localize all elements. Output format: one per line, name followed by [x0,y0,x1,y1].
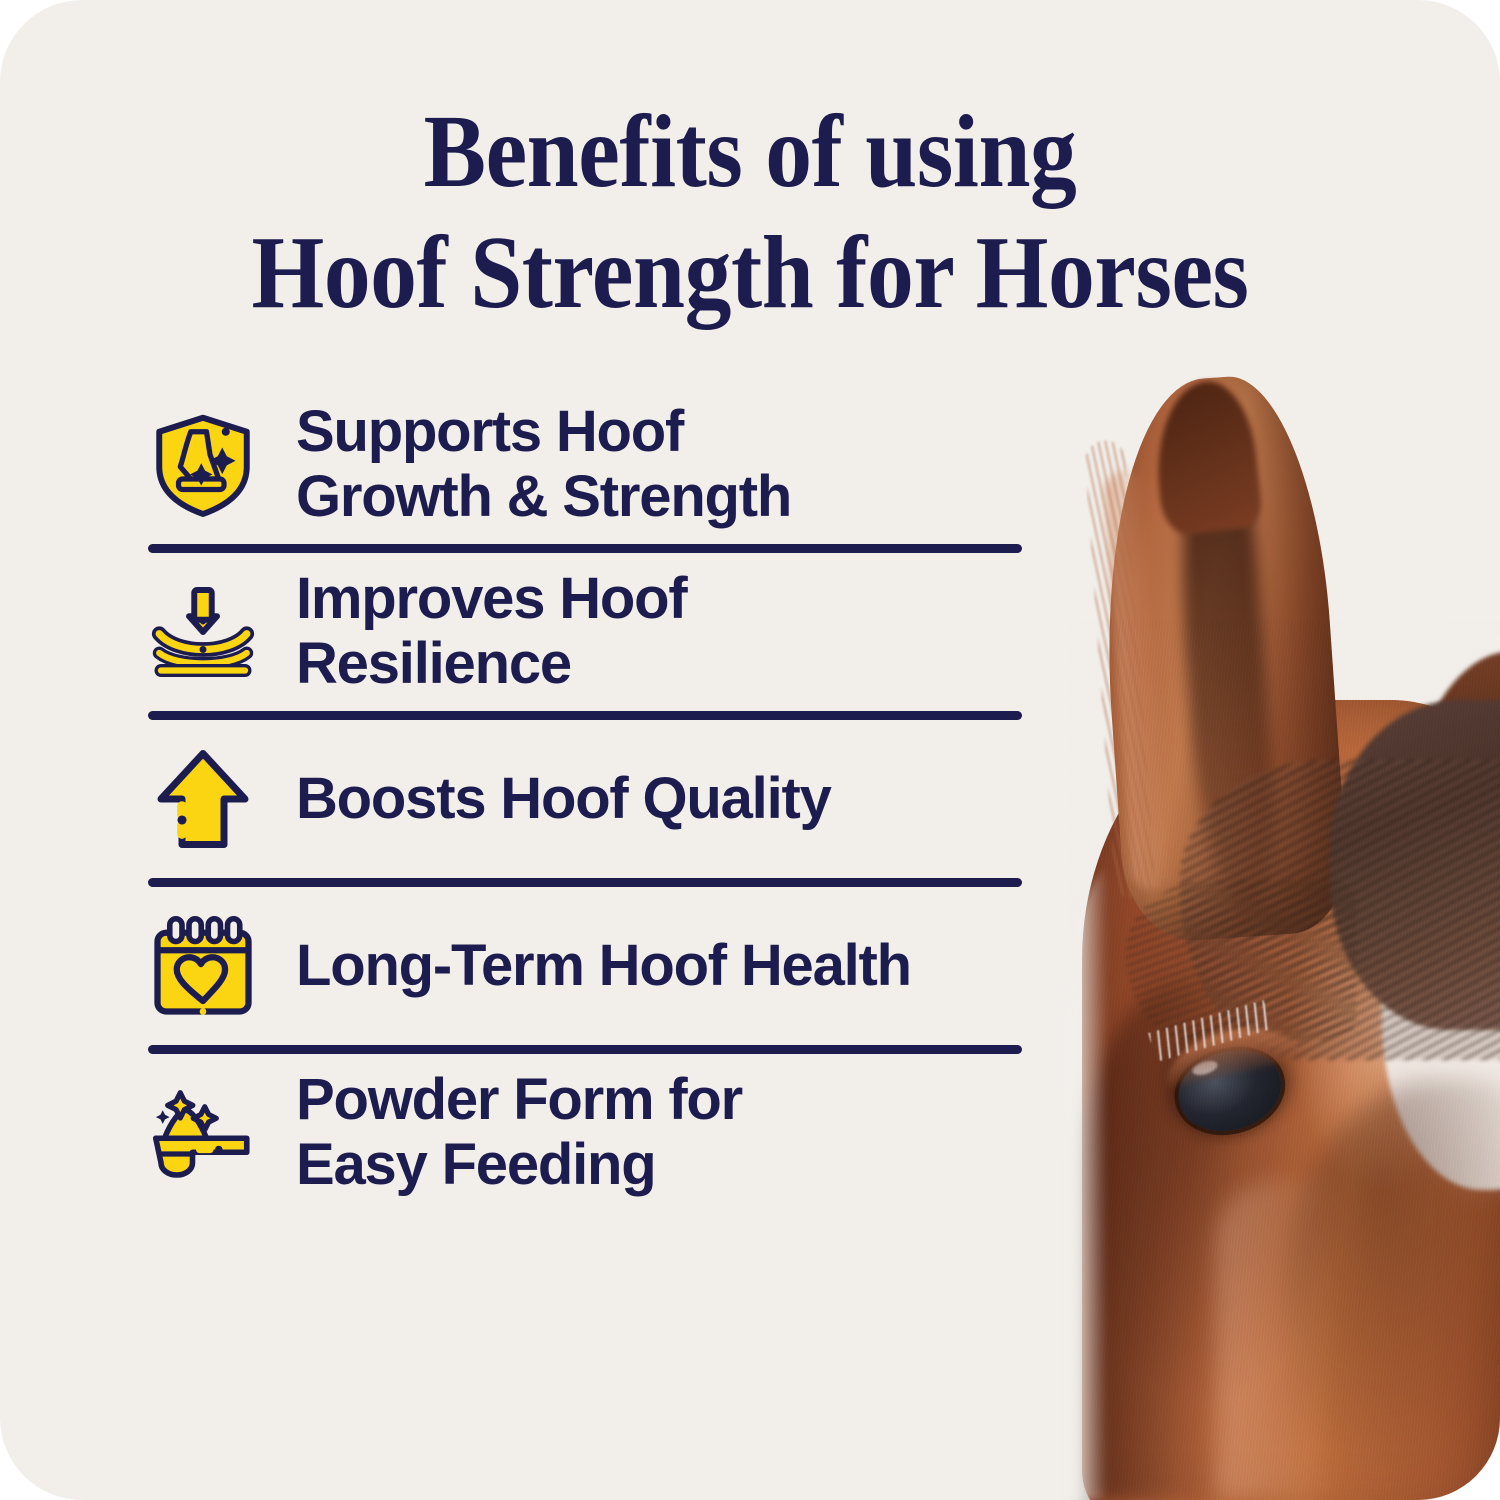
horse-eye-socket [1158,1020,1308,1140]
horse-silhouette-feather [1064,860,1124,1500]
page-title: Benefits of using Hoof Strength for Hors… [75,92,1425,333]
title-line-1: Benefits of using [75,92,1425,213]
horse-eyelashes [1148,1000,1272,1062]
benefit-divider [148,544,1022,553]
powder-scoop-icon [144,1074,262,1192]
calendar-heart-icon [144,907,262,1025]
horse-mane-strands [1180,760,1500,1060]
benefit-item-powder-form: Powder Form for Easy Feeding [144,1058,1024,1208]
horse-head-shadow [1082,980,1232,1500]
horse-nose-ridge [1216,1180,1336,1500]
horse-eye [1170,1041,1290,1142]
benefit-label: Long-Term Hoof Health [296,934,911,999]
benefit-item-hoof-resilience: Improves Hoof Resilience [144,557,1024,707]
horse-fur-texture [1070,620,1500,1500]
shield-hoof-icon [144,406,262,524]
horse-cheek-shading [1280,1080,1500,1500]
horse-forelock [1330,700,1500,1030]
benefit-item-long-term-health: Long-Term Hoof Health [144,891,1024,1041]
benefit-label: Boosts Hoof Quality [296,767,831,832]
horse-ear [1089,371,1352,945]
horse-eye-highlight [1191,1058,1219,1077]
benefit-label-line-2: Growth & Strength [296,464,791,529]
benefit-label: Powder Form for Easy Feeding [296,1068,742,1198]
up-arrow-icon [144,740,262,858]
horse-forelock-wisps [1126,880,1356,1040]
benefit-divider [148,711,1022,720]
benefit-item-hoof-quality: Boosts Hoof Quality [144,724,1024,874]
horse-blaze-marking [1382,770,1500,1190]
benefit-label: Improves Hoof Resilience [296,567,686,697]
resilience-cushion-icon [144,573,262,691]
benefit-label-line-1: Improves Hoof [296,566,686,631]
benefit-label-line-1: Boosts Hoof Quality [296,766,831,831]
horse-ear-tip [1148,377,1263,537]
benefit-label-line-1: Supports Hoof [296,399,683,464]
horse-ear-inner-shadow [1169,408,1282,912]
benefit-label-line-1: Long-Term Hoof Health [296,933,911,998]
benefit-divider [148,878,1022,887]
horse-second-ear [1410,631,1500,815]
benefit-label: Supports Hoof Growth & Strength [296,400,791,530]
benefit-item-hoof-growth: Supports Hoof Growth & Strength [144,390,1024,540]
infographic-canvas: Benefits of using Hoof Strength for Hors… [0,0,1500,1500]
title-line-2: Hoof Strength for Horses [75,213,1425,334]
horse-eyelid [1159,1016,1305,1088]
horse-ear-fur [1084,439,1156,901]
benefit-divider [148,1045,1022,1054]
benefit-label-line-1: Powder Form for [296,1067,742,1132]
benefit-label-line-2: Easy Feeding [296,1132,656,1197]
horse-ear-highlight [1103,469,1172,891]
benefit-label-line-2: Resilience [296,631,571,696]
benefits-list: Supports Hoof Growth & Strength [144,390,1024,1208]
horse-head [1082,700,1500,1500]
horse-blaze-glow [1370,760,1500,1210]
